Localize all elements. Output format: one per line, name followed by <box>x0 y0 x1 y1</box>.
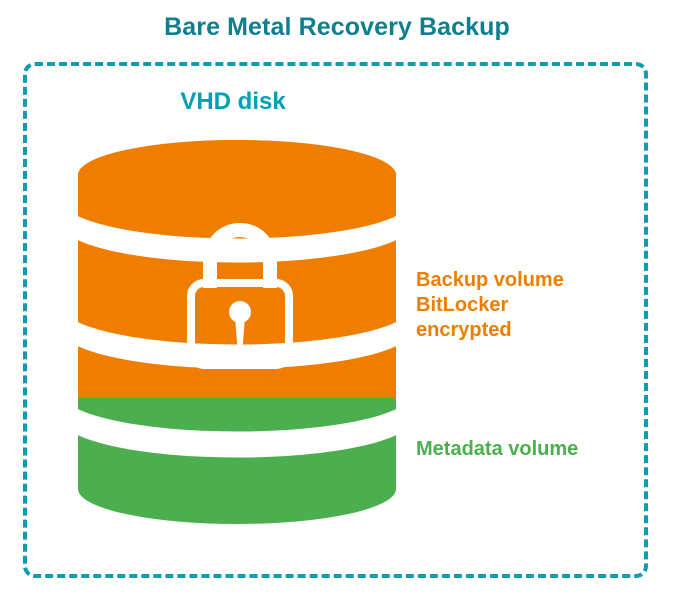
vhd-disk-label: VHD disk <box>23 88 443 116</box>
backup-volume-annotation-line-3: encrypted <box>416 318 564 343</box>
disk-segment-metadata <box>76 398 398 528</box>
bare-metal-recovery-diagram: Bare Metal Recovery Backup VHD disk <box>0 0 674 605</box>
backup-volume-annotation: Backup volume BitLocker encrypted <box>416 268 564 343</box>
backup-volume-annotation-line-2: BitLocker <box>416 293 564 318</box>
metadata-volume-annotation: Metadata volume <box>416 437 578 462</box>
backup-volume-annotation-line-1: Backup volume <box>416 268 564 293</box>
metadata-volume-annotation-line-1: Metadata volume <box>416 437 578 462</box>
disk-top-face <box>78 140 396 210</box>
cylinder-disk-icon <box>76 138 398 528</box>
cylinder-disk-svg <box>76 138 398 528</box>
page-title: Bare Metal Recovery Backup <box>0 13 674 42</box>
